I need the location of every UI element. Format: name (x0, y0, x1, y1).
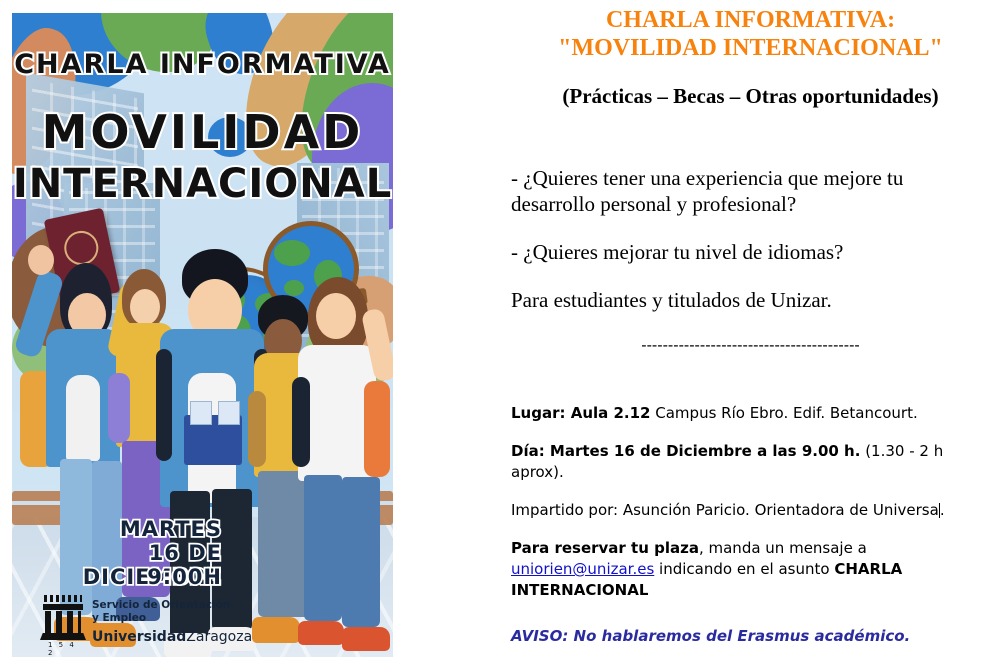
event-poster-image: CHARLA INFORMATIVA MOVILIDAD INTERNACION… (12, 13, 393, 657)
universidad-zaragoza-crest-icon: 1 5 4 2 (40, 595, 86, 649)
question-languages: - ¿Quieres mejorar tu nivel de idiomas? (505, 217, 996, 265)
reservation-text-1: , manda un mensaje a (699, 539, 867, 557)
notice-line: AVISO: No hablaremos del Erasmus académi… (505, 601, 996, 645)
title-line-2: "MOVILIDAD INTERNACIONAL" (505, 34, 996, 62)
logo-university-city: Zaragoza (186, 629, 252, 645)
announcement-subtitle: (Prácticas – Becas – Otras oportunidades… (505, 62, 996, 109)
reservation-text-2: indicando en el asunto (654, 560, 834, 578)
speaker-line: Impartido por: Asunción Paricio. Orienta… (505, 483, 996, 521)
date-label: Día: Martes 16 de Diciembre a las 9.00 h… (511, 442, 860, 460)
venue-detail: Campus Río Ebro. Edif. Betancourt. (651, 404, 918, 422)
logo-service-line-1: Servicio de Orientación (92, 599, 252, 612)
logo-university-word: Universidad (92, 629, 186, 645)
venue-line: Lugar: Aula 2.12 Campus Río Ebro. Edif. … (505, 355, 996, 424)
date-line: Día: Martes 16 de Diciembre a las 9.00 h… (505, 424, 996, 483)
logo-university-name: UniversidadZaragoza (92, 629, 252, 645)
universidad-zaragoza-wordmark: Servicio de Orientación y Empleo Univers… (92, 599, 252, 645)
poster-headline-charla: CHARLA INFORMATIVA (12, 49, 393, 80)
poster-date-day: MARTES (12, 517, 222, 541)
reservation-label: Para reservar tu plaza (511, 539, 699, 557)
announcement-text-body: CHARLA INFORMATIVA: "MOVILIDAD INTERNACI… (505, 0, 996, 667)
announcement-title: CHARLA INFORMATIVA: "MOVILIDAD INTERNACI… (505, 0, 996, 62)
logo-service-line-2: y Empleo (92, 612, 252, 625)
reservation-email-link[interactable]: uniorien@unizar.es (511, 560, 654, 578)
crest-year-label: 1 5 4 2 (48, 641, 86, 657)
poster-date-time: 9:00H (12, 565, 222, 589)
question-experience: - ¿Quieres tener una experiencia que mej… (505, 109, 996, 217)
venue-label: Lugar: Aula 2.12 (511, 404, 651, 422)
speaker-text: Impartido por: Asunción Paricio. Orienta… (511, 501, 939, 519)
reservation-line: Para reservar tu plaza, manda un mensaje… (505, 521, 996, 601)
audience-line: Para estudiantes y titulados de Unizar. (505, 265, 996, 313)
poster-headline-movilidad: MOVILIDAD (12, 105, 393, 159)
poster-headline-internacional: INTERNACIONAL (12, 161, 393, 207)
title-line-1: CHARLA INFORMATIVA: (505, 6, 996, 34)
section-divider: ----------------------------------------… (505, 313, 996, 355)
speaker-period: . (940, 501, 945, 519)
